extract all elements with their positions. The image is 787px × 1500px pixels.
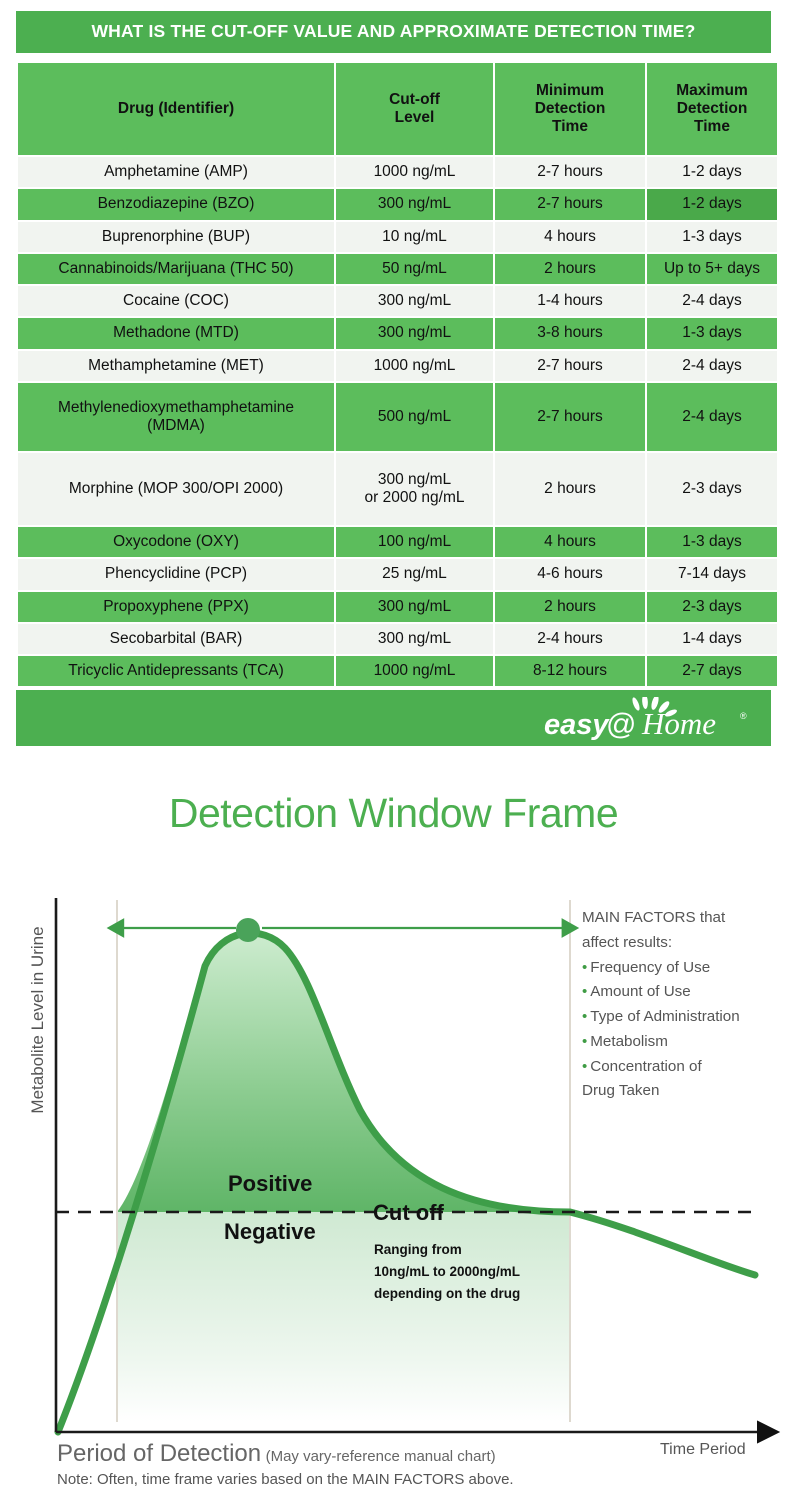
cell-max: Up to 5+ days [647, 254, 777, 284]
table-row: Propoxyphene (PPX) 300 ng/mL 2 hours 2-3… [18, 592, 777, 622]
main-factors-item-label: Type of Administration [590, 1008, 739, 1025]
x-axis-label: Time Period [660, 1441, 746, 1459]
cell-cutoff: 10 ng/mL [336, 222, 493, 252]
positive-region-label: Positive [228, 1171, 312, 1197]
cell-cutoff: 1000 ng/mL [336, 157, 493, 187]
main-factors-panel: MAIN FACTORS that affect results: •Frequ… [582, 906, 787, 1104]
cell-cutoff: 300 ng/mL [336, 286, 493, 316]
chart-title: Detection Window Frame [0, 790, 787, 837]
cell-min: 3-8 hours [495, 318, 645, 348]
cutoff-label: Cut off [373, 1200, 444, 1226]
cell-cutoff: 50 ng/mL [336, 254, 493, 284]
cell-drug-line1: Methylenedioxymethamphetamine [24, 399, 328, 417]
cell-min: 2-7 hours [495, 157, 645, 187]
column-header-drug: Drug (Identifier) [18, 63, 334, 155]
cell-cutoff: 300 ng/mL or 2000 ng/mL [336, 453, 493, 525]
main-factors-item-label: Concentration of [590, 1058, 701, 1075]
period-of-detection-note: (May vary-reference manual chart) [266, 1448, 496, 1465]
cell-drug: Benzodiazepine (BZO) [18, 189, 334, 219]
cell-max: 1-3 days [647, 318, 777, 348]
cell-drug: Cannabinoids/Marijuana (THC 50) [18, 254, 334, 284]
table-row: Methamphetamine (MET) 1000 ng/mL 2-7 hou… [18, 351, 777, 381]
table-row: Buprenorphine (BUP) 10 ng/mL 4 hours 1-3… [18, 222, 777, 252]
cell-drug: Oxycodone (OXY) [18, 527, 334, 557]
cell-max: 2-4 days [647, 383, 777, 451]
period-of-detection-label: Period of Detection [57, 1440, 261, 1467]
cutoff-table-section: WHAT IS THE CUT-OFF VALUE AND APPROXIMAT… [16, 11, 771, 746]
main-factors-item-label: Frequency of Use [590, 959, 710, 976]
cell-min: 2 hours [495, 453, 645, 525]
main-factors-item-label: Metabolism [590, 1033, 668, 1050]
cell-min: 1-4 hours [495, 286, 645, 316]
cell-max: 1-2 days [647, 189, 777, 219]
main-factors-item-wrap: Drug Taken [582, 1079, 787, 1104]
cell-cutoff: 300 ng/mL [336, 318, 493, 348]
cell-max: 7-14 days [647, 559, 777, 589]
cell-max: 2-4 days [647, 351, 777, 381]
table-row: Tricyclic Antidepressants (TCA) 1000 ng/… [18, 656, 777, 686]
easy-at-home-logo: easy @ Home ® [544, 697, 759, 741]
cell-cutoff: 300 ng/mL [336, 592, 493, 622]
main-factors-heading-line1: MAIN FACTORS that [582, 906, 787, 931]
main-factors-item: •Amount of Use [582, 980, 787, 1005]
column-header-min-line2: Detection [501, 100, 639, 118]
cell-max: 2-4 days [647, 286, 777, 316]
cutoff-detail-text: Ranging from 10ng/mL to 2000ng/mL depend… [374, 1239, 520, 1305]
column-header-max-line3: Time [653, 118, 771, 136]
cell-min: 2 hours [495, 592, 645, 622]
table-row: Methylenedioxymethamphetamine (MDMA) 500… [18, 383, 777, 451]
column-header-min-line3: Time [501, 118, 639, 136]
cell-max: 1-3 days [647, 222, 777, 252]
column-header-drug-label: Drug (Identifier) [118, 100, 234, 117]
cell-min: 2-7 hours [495, 351, 645, 381]
main-factors-heading-line2: affect results: [582, 931, 787, 956]
column-header-cutoff-level: Cut-off Level [336, 63, 493, 155]
cell-drug: Phencyclidine (PCP) [18, 559, 334, 589]
cell-min: 2-7 hours [495, 189, 645, 219]
cutoff-detection-table: Drug (Identifier) Cut-off Level Minimum … [16, 61, 779, 688]
main-factors-item-label: Amount of Use [590, 983, 690, 1000]
chart-bottom-note: Note: Often, time frame varies based on … [57, 1471, 514, 1488]
column-header-cutoff-line2: Level [342, 109, 487, 127]
logo-text-home: Home [641, 706, 716, 741]
cell-drug: Buprenorphine (BUP) [18, 222, 334, 252]
cell-cutoff: 100 ng/mL [336, 527, 493, 557]
cell-cutoff: 300 ng/mL [336, 189, 493, 219]
main-factors-item: •Type of Administration [582, 1005, 787, 1030]
cell-drug: Methadone (MTD) [18, 318, 334, 348]
bullet-icon: • [582, 1008, 587, 1025]
negative-region-label: Negative [224, 1219, 316, 1245]
cell-drug: Methamphetamine (MET) [18, 351, 334, 381]
cell-min: 2 hours [495, 254, 645, 284]
table-row: Methadone (MTD) 300 ng/mL 3-8 hours 1-3 … [18, 318, 777, 348]
table-row: Oxycodone (OXY) 100 ng/mL 4 hours 1-3 da… [18, 527, 777, 557]
bullet-icon: • [582, 983, 587, 1000]
main-factors-item: •Frequency of Use [582, 956, 787, 981]
cell-drug: Secobarbital (BAR) [18, 624, 334, 654]
cell-cutoff-line1: 300 ng/mL [342, 471, 487, 489]
logo-text-at: @ [606, 708, 636, 741]
table-header-row: Drug (Identifier) Cut-off Level Minimum … [18, 63, 777, 155]
cell-min: 2-4 hours [495, 624, 645, 654]
cell-cutoff: 1000 ng/mL [336, 656, 493, 686]
cell-min: 4 hours [495, 222, 645, 252]
cell-cutoff: 500 ng/mL [336, 383, 493, 451]
period-of-detection-caption: Period of Detection (May vary-reference … [57, 1440, 677, 1468]
table-row: Secobarbital (BAR) 300 ng/mL 2-4 hours 1… [18, 624, 777, 654]
column-header-min-line1: Minimum [501, 82, 639, 100]
column-header-max-line1: Maximum [653, 82, 771, 100]
cell-cutoff: 300 ng/mL [336, 624, 493, 654]
cutoff-detail-line2: 10ng/mL to 2000ng/mL [374, 1261, 520, 1283]
logo-registered-mark: ® [740, 711, 747, 721]
column-header-max-detection: Maximum Detection Time [647, 63, 777, 155]
cell-cutoff: 1000 ng/mL [336, 351, 493, 381]
page-root: WHAT IS THE CUT-OFF VALUE AND APPROXIMAT… [0, 0, 787, 1500]
cell-drug: Morphine (MOP 300/OPI 2000) [18, 453, 334, 525]
cell-min: 4 hours [495, 527, 645, 557]
cell-min: 8-12 hours [495, 656, 645, 686]
column-header-max-line2: Detection [653, 100, 771, 118]
table-banner-title: WHAT IS THE CUT-OFF VALUE AND APPROXIMAT… [16, 11, 771, 53]
logo-text-easy: easy [544, 709, 610, 741]
cell-max: 2-3 days [647, 592, 777, 622]
cell-drug-line2: (MDMA) [24, 417, 328, 435]
table-row: Morphine (MOP 300/OPI 2000) 300 ng/mL or… [18, 453, 777, 525]
bullet-icon: • [582, 1058, 587, 1075]
cell-min: 4-6 hours [495, 559, 645, 589]
cell-max: 1-2 days [647, 157, 777, 187]
column-header-min-detection: Minimum Detection Time [495, 63, 645, 155]
peak-marker-dot [236, 918, 260, 942]
cutoff-detail-line3: depending on the drug [374, 1283, 520, 1305]
cutoff-detail-line1: Ranging from [374, 1239, 520, 1261]
table-row: Phencyclidine (PCP) 25 ng/mL 4-6 hours 7… [18, 559, 777, 589]
cell-drug: Propoxyphene (PPX) [18, 592, 334, 622]
column-header-cutoff-line1: Cut-off [342, 91, 487, 109]
main-factors-item: •Metabolism [582, 1030, 787, 1055]
cell-cutoff-line2: or 2000 ng/mL [342, 489, 487, 507]
cell-drug: Cocaine (COC) [18, 286, 334, 316]
table-row: Cannabinoids/Marijuana (THC 50) 50 ng/mL… [18, 254, 777, 284]
cell-drug: Methylenedioxymethamphetamine (MDMA) [18, 383, 334, 451]
cell-max: 1-3 days [647, 527, 777, 557]
bullet-icon: • [582, 959, 587, 976]
table-row: Amphetamine (AMP) 1000 ng/mL 2-7 hours 1… [18, 157, 777, 187]
bullet-icon: • [582, 1033, 587, 1050]
table-row: Benzodiazepine (BZO) 300 ng/mL 2-7 hours… [18, 189, 777, 219]
cell-max: 2-3 days [647, 453, 777, 525]
table-footer-band: easy @ Home ® [16, 690, 771, 746]
cell-cutoff: 25 ng/mL [336, 559, 493, 589]
cell-max: 2-7 days [647, 656, 777, 686]
cell-drug: Amphetamine (AMP) [18, 157, 334, 187]
cell-max: 1-4 days [647, 624, 777, 654]
main-factors-item: •Concentration of [582, 1055, 787, 1080]
cell-drug: Tricyclic Antidepressants (TCA) [18, 656, 334, 686]
cell-min: 2-7 hours [495, 383, 645, 451]
table-row: Cocaine (COC) 300 ng/mL 1-4 hours 2-4 da… [18, 286, 777, 316]
